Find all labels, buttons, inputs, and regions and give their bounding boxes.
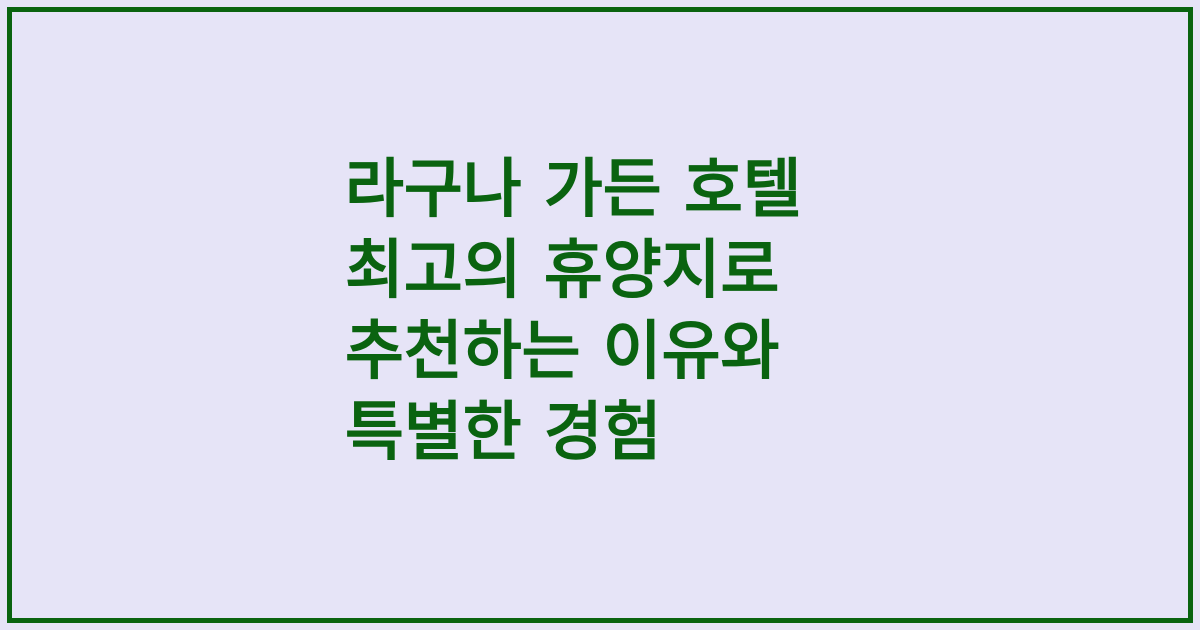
headline-line-2: 최고의 휴양지로	[345, 231, 1145, 312]
headline-block: 라구나 가든 호텔 최고의 휴양지로 추천하는 이유와 특별한 경험	[345, 150, 1145, 474]
headline-line-1: 라구나 가든 호텔	[345, 150, 1145, 231]
poster-canvas: 라구나 가든 호텔 최고의 휴양지로 추천하는 이유와 특별한 경험	[0, 0, 1200, 630]
headline-line-3: 추천하는 이유와	[345, 312, 1145, 393]
headline-line-4: 특별한 경험	[345, 393, 1145, 474]
